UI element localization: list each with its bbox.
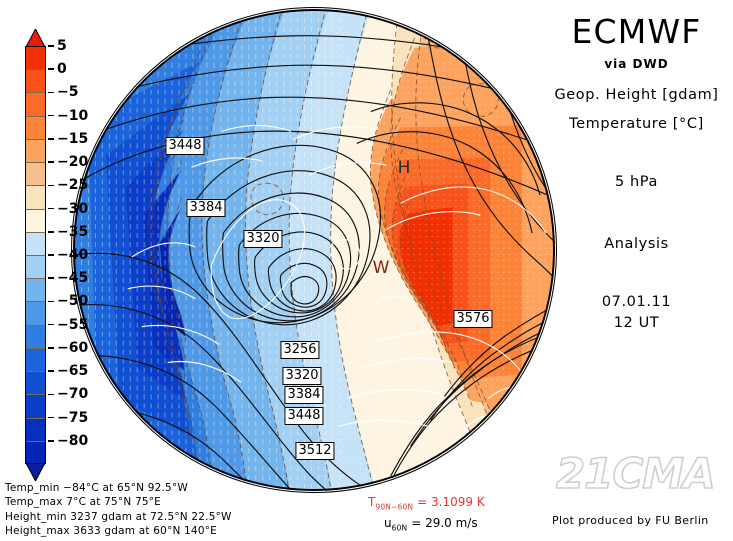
colorbar-tick-label: −30 — [57, 202, 88, 216]
colorbar-band — [26, 233, 45, 256]
colorbar-tick-label: −75 — [57, 411, 88, 425]
valid-time-label: 12 UT — [540, 315, 733, 331]
vortex-diagnostics: T90N−60N = 3.1099 K u60N = 29.0 m/s — [368, 494, 485, 537]
height-label: 3576 — [453, 310, 492, 328]
colorbar-tick-mark — [48, 370, 54, 372]
height-label: 3448 — [165, 137, 204, 155]
colorbar-tick-mark — [48, 161, 54, 163]
colorbar-band — [26, 186, 45, 209]
model-center-title: ECMWF — [540, 14, 733, 50]
colorbar-tick-label: −65 — [57, 364, 88, 378]
colorbar-band — [26, 349, 45, 372]
height-label: 3512 — [295, 442, 334, 460]
polar-map: 3448 3384 3320 3256 3320 3384 3448 3512 … — [71, 7, 557, 493]
colorbar-ticks: 50−5−10−15−20−25−30−35−40−45−50−55−60−65… — [48, 46, 94, 464]
colorbar-band — [26, 70, 45, 93]
colorbar-band — [26, 210, 45, 233]
colorbar-tick-mark — [48, 301, 54, 303]
height-label: 3320 — [282, 367, 321, 385]
colorbar-band — [26, 93, 45, 116]
warm-center-marker: W — [373, 258, 390, 278]
colorbar-band — [26, 419, 45, 442]
colorbar-tick-mark — [48, 208, 54, 210]
height-label: 3320 — [243, 230, 282, 248]
colorbar-tick-label: −10 — [57, 109, 88, 123]
zonal-wind-diagnostic: u60N = 29.0 m/s — [368, 515, 485, 536]
colorbar-top-arrow — [25, 29, 46, 47]
colorbar-tick-mark — [48, 92, 54, 94]
colorbar-bands — [25, 46, 46, 464]
colorbar-band — [26, 163, 45, 186]
run-type-label: Analysis — [540, 236, 733, 252]
watermark-21cma: 21CMA — [556, 452, 715, 496]
u-symbol: u — [384, 516, 392, 530]
colorbar-tick-label: −70 — [57, 387, 88, 401]
colorbar-tick-mark — [48, 417, 54, 419]
height-label: 3256 — [280, 341, 319, 359]
plot-credit: Plot produced by FU Berlin — [552, 514, 709, 527]
colorbar-band — [26, 395, 45, 418]
field-height-label: Geop. Height [gdam] — [540, 87, 733, 103]
colorbar-tick-label: −35 — [57, 225, 88, 239]
info-panel: ECMWF via DWD Geop. Height [gdam] Temper… — [540, 14, 733, 331]
height-min-line: Height_min 3237 gdam at 72.5°N 22.5°W — [5, 510, 232, 524]
field-extrema-stats: Temp_min −84°C at 65°N 92.5°W Temp_max 7… — [5, 481, 232, 539]
height-max-line: Height_max 3633 gdam at 60°N 140°E — [5, 524, 232, 538]
colorbar-band — [26, 140, 45, 163]
colorbar-tick-mark — [48, 45, 54, 47]
temp-max-line: Temp_max 7°C at 75°N 75°E — [5, 495, 232, 509]
colorbar-tick-mark — [48, 254, 54, 256]
colorbar-tick-label: −20 — [57, 155, 88, 169]
colorbar-tick-mark — [48, 440, 54, 442]
field-temp-label: Temperature [°C] — [540, 116, 733, 132]
colorbar-bottom-arrow — [25, 463, 46, 481]
colorbar-tick-mark — [48, 277, 54, 279]
colorbar-tick-label: −45 — [57, 271, 88, 285]
height-label: 3384 — [186, 199, 225, 217]
colorbar-tick-mark — [48, 138, 54, 140]
colorbar-tick-label: −50 — [57, 294, 88, 308]
colorbar-tick-label: 5 — [57, 39, 67, 53]
colorbar-tick-mark — [48, 324, 54, 326]
temperature-gradient-diagnostic: T90N−60N = 3.1099 K — [368, 494, 485, 515]
t-subscript: 90N−60N — [375, 502, 413, 511]
data-source-label: via DWD — [540, 57, 733, 71]
t-value: = 3.1099 K — [417, 495, 485, 509]
high-center-marker: H — [398, 158, 411, 178]
colorbar-tick-label: −60 — [57, 341, 88, 355]
colorbar-band — [26, 256, 45, 279]
valid-date-label: 07.01.11 — [540, 294, 733, 310]
colorbar-tick-mark — [48, 115, 54, 117]
height-label: 3448 — [284, 407, 323, 425]
colorbar-band — [26, 372, 45, 395]
colorbar-tick-label: −55 — [57, 318, 88, 332]
colorbar-band — [26, 326, 45, 349]
u-subscript: 60N — [392, 524, 408, 533]
colorbar-tick-label: −40 — [57, 248, 88, 262]
pressure-level-label: 5 hPa — [540, 174, 733, 190]
colorbar-band — [26, 47, 45, 70]
colorbar-band — [26, 302, 45, 325]
colorbar-tick-mark — [48, 68, 54, 70]
colorbar-tick-mark — [48, 231, 54, 233]
colorbar-band — [26, 279, 45, 302]
colorbar-tick-mark — [48, 394, 54, 396]
colorbar-tick-label: −80 — [57, 434, 88, 448]
colorbar-tick-label: −5 — [57, 85, 78, 99]
colorbar-tick-label: −25 — [57, 178, 88, 192]
colorbar-band — [26, 442, 45, 465]
colorbar-tick-label: −15 — [57, 132, 88, 146]
u-value: = 29.0 m/s — [411, 516, 477, 530]
temp-min-line: Temp_min −84°C at 65°N 92.5°W — [5, 481, 232, 495]
temperature-colorbar: 50−5−10−15−20−25−30−35−40−45−50−55−60−65… — [25, 29, 46, 481]
colorbar-band — [26, 117, 45, 140]
colorbar-tick-label: 0 — [57, 62, 67, 76]
colorbar-tick-mark — [48, 185, 54, 187]
colorbar-tick-mark — [48, 347, 54, 349]
height-label: 3384 — [284, 386, 323, 404]
